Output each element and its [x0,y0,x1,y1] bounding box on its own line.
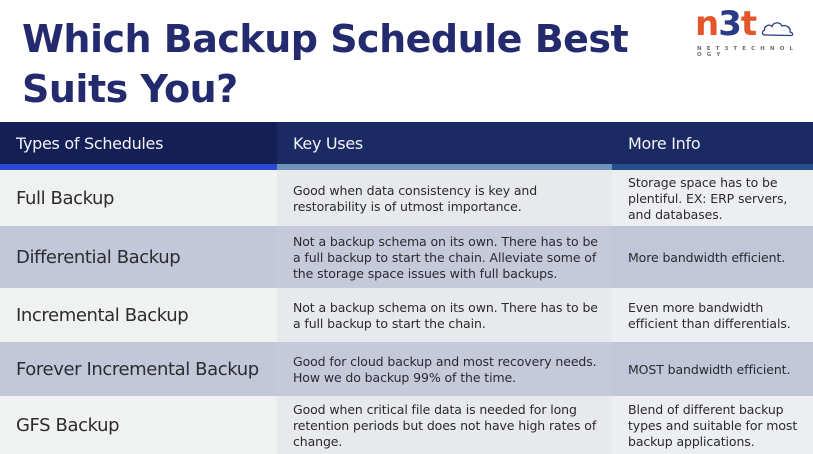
table-row: GFS Backup Good when critical file data … [0,396,813,454]
table-row: Incremental Backup Not a backup schema o… [0,288,813,342]
schedules-table: Types of Schedules Key Uses More Info Fu… [0,122,813,454]
table-cell-key-uses: Good when critical file data is needed f… [277,396,612,454]
column-header-label: More Info [612,134,700,153]
logo-letter-t: t [741,4,756,44]
key-uses-text: Good when critical file data is needed f… [293,402,598,450]
table-header-cell-types: Types of Schedules [0,122,277,164]
table-header-cell-more-info: More Info [612,122,813,164]
table-row: Forever Incremental Backup Good for clou… [0,342,813,396]
logo-mark: n3t N E T 3 T E C H N O L O G Y [691,8,799,48]
table-cell-more-info: More bandwidth efficient. [612,226,813,288]
schedule-type-label: Differential Backup [16,247,180,269]
page-title: Which Backup Schedule Best Suits You? [22,14,662,114]
table-cell-type: Incremental Backup [0,288,277,342]
logo-subtitle: N E T 3 T E C H N O L O G Y [697,46,799,58]
table-header-cell-key-uses: Key Uses [277,122,612,164]
schedule-type-label: Forever Incremental Backup [16,359,259,381]
more-info-text: MOST bandwidth efficient. [628,362,790,378]
column-header-label: Types of Schedules [0,134,163,153]
table-cell-type: Full Backup [0,170,277,226]
more-info-text: More bandwidth efficient. [628,250,785,266]
table-cell-type: GFS Backup [0,396,277,454]
table-row: Full Backup Good when data consistency i… [0,170,813,226]
table-cell-more-info: Even more bandwidth efficient than diffe… [612,288,813,342]
schedule-type-label: GFS Backup [16,415,119,437]
table-cell-key-uses: Not a backup schema on its own. There ha… [277,226,612,288]
key-uses-text: Not a backup schema on its own. There ha… [293,300,598,332]
table-cell-more-info: Storage space has to be plentiful. EX: E… [612,170,813,226]
more-info-text: Blend of different backup types and suit… [628,402,799,450]
table-cell-key-uses: Good for cloud backup and most recovery … [277,342,612,396]
key-uses-text: Good when data consistency is key and re… [293,183,598,215]
more-info-text: Even more bandwidth efficient than diffe… [628,300,799,332]
table-cell-key-uses: Good when data consistency is key and re… [277,170,612,226]
logo-wordmark: n3t [695,4,756,44]
schedule-type-label: Incremental Backup [16,305,188,327]
logo-letter-n: n [695,4,718,44]
key-uses-text: Not a backup schema on its own. There ha… [293,234,598,282]
table-cell-more-info: MOST bandwidth efficient. [612,342,813,396]
table-cell-key-uses: Not a backup schema on its own. There ha… [277,288,612,342]
schedule-type-label: Full Backup [16,188,114,210]
more-info-text: Storage space has to be plentiful. EX: E… [628,175,799,223]
table-cell-type: Differential Backup [0,226,277,288]
table-row: Differential Backup Not a backup schema … [0,226,813,288]
logo: n3t N E T 3 T E C H N O L O G Y [691,8,799,60]
table-header-row: Types of Schedules Key Uses More Info [0,122,813,164]
table-cell-more-info: Blend of different backup types and suit… [612,396,813,454]
cloud-icon [761,18,795,38]
logo-letter-3: 3 [718,4,741,44]
column-header-label: Key Uses [277,134,363,153]
slide-header: Which Backup Schedule Best Suits You? n3… [0,0,813,122]
key-uses-text: Good for cloud backup and most recovery … [293,354,598,386]
table-cell-type: Forever Incremental Backup [0,342,277,396]
